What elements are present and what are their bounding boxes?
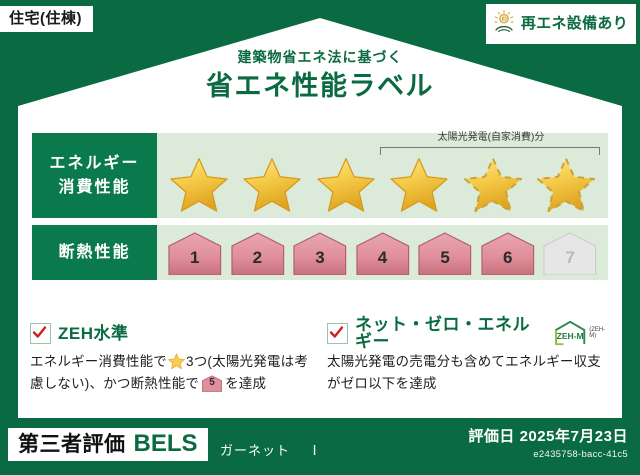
bels-jp-text: 第三者評価 xyxy=(18,434,126,455)
zeh-m-house-icon: ZEH-M xyxy=(553,319,587,347)
note-net-zero-energy: ネット・ゼロ・エネルギー ZEH-M (ZEH-M) 太陽光発電の売電分も含めて… xyxy=(327,322,610,395)
insulation-badge: 3 xyxy=(290,231,350,275)
energy-performance-label: エネルギー 消費性能 xyxy=(32,133,157,218)
insulation-badge-value: 2 xyxy=(253,248,262,275)
page-title: 建築物省エネ法に基づく 省エネ性能ラベル xyxy=(0,50,640,100)
insulation-badge-value: 3 xyxy=(315,248,324,275)
note-title: ZEH水準 xyxy=(58,325,129,342)
star-solar-dashed-icon xyxy=(464,156,522,212)
renewable-equipment-badge: 再エネ設備あり xyxy=(486,4,636,44)
note-body: 太陽光発電の売電分も含めてエネルギー収支がゼロ以下を達成 xyxy=(327,351,610,395)
solar-annotation-bracket xyxy=(380,147,600,155)
note-text-part3: を達成 xyxy=(225,376,266,391)
insulation-badge-inactive: 7 xyxy=(540,231,600,275)
insulation-performance-label: 断熱性能 xyxy=(32,225,157,280)
checkbox-checked xyxy=(327,323,348,344)
property-unit-text: Ⅰ xyxy=(313,443,318,458)
label-footer: 第三者評価 BELS ガーネット Ⅰ 評価日 2025年7月23日 e24357… xyxy=(0,418,640,475)
insulation-badge: 5 xyxy=(415,231,475,275)
star-item xyxy=(310,156,382,212)
star-item xyxy=(384,156,456,212)
svg-text:ZEH-M: ZEH-M xyxy=(557,331,584,341)
building-type-text: 住宅(住棟) xyxy=(9,10,82,27)
inline-house-value: 5 xyxy=(201,375,223,392)
bels-en-text: BELS xyxy=(134,432,198,456)
zeh-m-logo: ZEH-M (ZEH-M) xyxy=(553,319,610,347)
evaluation-date-line: 評価日 2025年7月23日 xyxy=(468,428,628,446)
checkbox-checked xyxy=(30,323,51,344)
ratings-section: エネルギー 消費性能 太陽光発電(自家消費)分 xyxy=(32,133,608,280)
insulation-badge-value: 6 xyxy=(503,248,512,275)
title-subtitle: 建築物省エネ法に基づく xyxy=(0,50,640,64)
energy-performance-label: 住宅(住棟) 再エネ設備あり 建築物省エ xyxy=(0,0,640,475)
note-header: ZEH水準 xyxy=(30,322,313,344)
energy-stars-area: 太陽光発電(自家消費)分 xyxy=(157,133,608,218)
note-star-count: 3つ xyxy=(186,354,207,369)
insulation-badge: 2 xyxy=(228,231,288,275)
property-name-text: ガーネット xyxy=(220,443,290,458)
note-body: エネルギー消費性能で3つ(太陽光発電は考慮しない)、かつ断熱性能で5を達成 xyxy=(30,351,313,395)
insulation-label-text: 断熱性能 xyxy=(58,241,130,264)
star-item xyxy=(163,156,235,212)
insulation-badge: 4 xyxy=(353,231,413,275)
star-solar-dashed-icon xyxy=(537,156,595,212)
note-text-part1: エネルギー消費性能で xyxy=(30,354,167,369)
note-title: ネット・ゼロ・エネルギー xyxy=(355,316,545,350)
bels-certification-mark: 第三者評価 BELS xyxy=(8,428,208,461)
energy-label-line1: エネルギー xyxy=(49,152,139,175)
note-zeh-standard: ZEH水準 エネルギー消費性能で3つ(太陽光発電は考慮しない)、かつ断熱性能で5… xyxy=(30,322,313,395)
insulation-performance-row: 断熱性能 1 xyxy=(32,225,608,280)
insulation-badge: 1 xyxy=(165,231,225,275)
insulation-badge: 6 xyxy=(478,231,538,275)
building-type-tag: 住宅(住棟) xyxy=(0,6,93,32)
energy-label-line2: 消費性能 xyxy=(58,176,130,199)
inline-star-icon xyxy=(168,353,185,369)
insulation-badge-strip: 1 2 3 xyxy=(165,229,600,276)
insulation-badge-value: 5 xyxy=(440,248,449,275)
star-filled-icon xyxy=(390,156,448,212)
evaluation-date-value: 2025年7月23日 xyxy=(520,428,628,445)
check-icon xyxy=(329,325,344,340)
note-header: ネット・ゼロ・エネルギー ZEH-M (ZEH-M) xyxy=(327,322,610,344)
inline-house-badge-icon: 5 xyxy=(201,375,223,392)
evaluation-info: 評価日 2025年7月23日 e2435758-bacc-41c5 xyxy=(468,428,628,460)
zeh-m-caption: (ZEH-M) xyxy=(589,327,610,339)
reference-id: e2435758-bacc-41c5 xyxy=(468,449,628,460)
renewable-badge-text: 再エネ設備あり xyxy=(521,16,628,31)
star-item xyxy=(457,156,529,212)
sun-over-horizon-icon xyxy=(492,9,516,38)
insulation-badge-value: 1 xyxy=(190,248,199,275)
energy-performance-row: エネルギー 消費性能 太陽光発電(自家消費)分 xyxy=(32,133,608,218)
insulation-badges-area: 1 2 3 xyxy=(157,225,608,280)
solar-annotation-text: 太陽光発電(自家消費)分 xyxy=(382,132,600,143)
property-name: ガーネット Ⅰ xyxy=(220,440,317,459)
check-icon xyxy=(32,325,47,340)
evaluation-date-label: 評価日 xyxy=(468,428,515,445)
title-main: 省エネ性能ラベル xyxy=(0,73,640,100)
achievement-notes: ZEH水準 エネルギー消費性能で3つ(太陽光発電は考慮しない)、かつ断熱性能で5… xyxy=(30,322,610,395)
star-item xyxy=(531,156,603,212)
star-filled-icon xyxy=(317,156,375,212)
insulation-badge-value: 7 xyxy=(566,248,575,275)
star-filled-icon xyxy=(243,156,301,212)
star-filled-icon xyxy=(170,156,228,212)
star-item xyxy=(237,156,309,212)
star-strip xyxy=(163,155,602,213)
insulation-badge-value: 4 xyxy=(378,248,387,275)
